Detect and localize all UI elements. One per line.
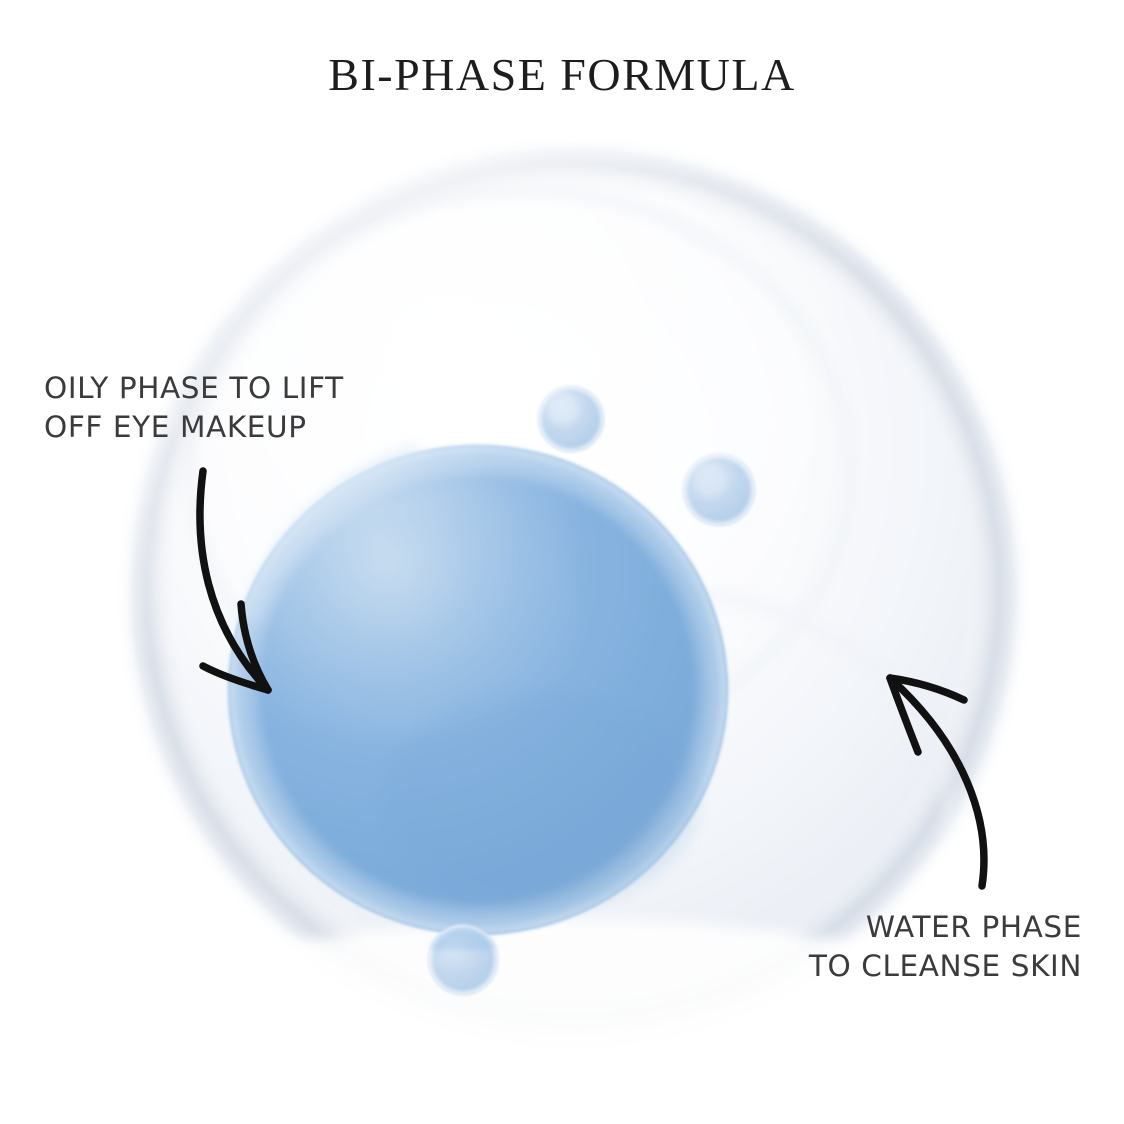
bi-phase-formula-infographic: BI-PHASE FORMULA OILY PHASE TO LIFT OFF …: [0, 0, 1124, 1124]
callout-water-line-1: WATER PHASE: [809, 908, 1082, 947]
satellite-bubble-upper-right: [683, 454, 755, 526]
callout-oily-line-1: OILY PHASE TO LIFT: [44, 369, 344, 408]
callout-oily-line-2: OFF EYE MAKEUP: [44, 408, 344, 447]
callout-water-line-2: TO CLEANSE SKIN: [809, 947, 1082, 986]
callout-oily-phase: OILY PHASE TO LIFT OFF EYE MAKEUP: [44, 369, 344, 447]
page-title: BI-PHASE FORMULA: [0, 48, 1124, 101]
satellite-bubble-upper-left: [538, 386, 604, 452]
callout-water-phase: WATER PHASE TO CLEANSE SKIN: [809, 908, 1082, 986]
oily-phase-droplet: [228, 445, 728, 935]
satellite-bubble-bottom: [428, 925, 498, 995]
